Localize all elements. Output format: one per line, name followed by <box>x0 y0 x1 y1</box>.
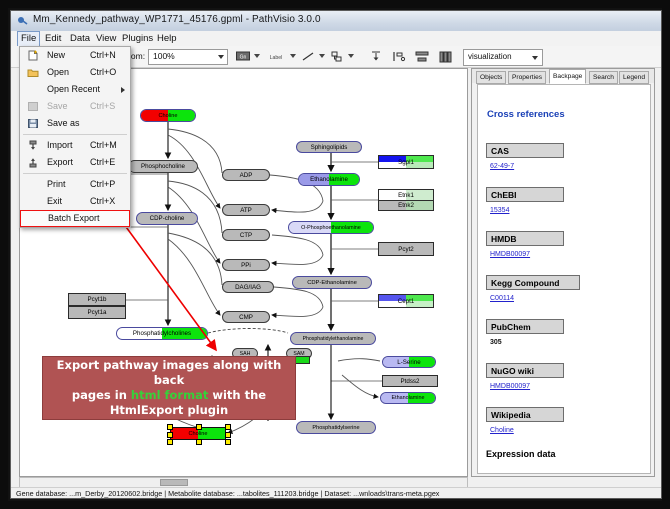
menu-edit[interactable]: Edit <box>41 32 65 45</box>
annotation-callout: Export pathway images along with back pa… <box>42 356 296 420</box>
node-cdp-ethanolamine[interactable]: CDP-Ethanolamine <box>292 276 372 289</box>
save-icon <box>27 101 39 112</box>
node-ethanolamine-2[interactable]: Ethanolamine <box>380 392 436 404</box>
annotation-text: Export pathway images along with back pa… <box>43 358 295 418</box>
side-panel-tabs: Objects Properties Backpage Search Legen… <box>472 69 654 83</box>
selection-handle[interactable] <box>167 439 173 445</box>
svg-text:Label: Label <box>270 55 283 61</box>
pathvisio-window: Mm_Kennedy_pathway_WP1771_45176.gpml - P… <box>10 10 662 499</box>
menu-separator <box>23 173 127 174</box>
file-menu-item-open[interactable]: Open Ctrl+O <box>20 64 130 81</box>
gene-pcyt2[interactable]: Pcyt2 <box>378 242 434 256</box>
file-menu-dropdown[interactable]: New Ctrl+N Open Ctrl+O Open Recent Save … <box>19 46 131 228</box>
submenu-arrow-icon <box>121 87 125 93</box>
tab-properties[interactable]: Properties <box>508 71 546 84</box>
stack-vertical-icon[interactable] <box>414 49 430 64</box>
annotation-line-2-pre: pages in <box>72 388 131 402</box>
status-bar-text: Gene database: ...m_Derby_20120602.bridg… <box>16 489 439 498</box>
datanode-dropdown-icon[interactable] <box>254 54 260 58</box>
node-adp[interactable]: ADP <box>222 169 270 181</box>
xref-value-cas[interactable]: 62-49-7 <box>490 163 514 170</box>
chevron-down-icon <box>532 56 538 60</box>
window-title: Mm_Kennedy_pathway_WP1771_45176.gpml - P… <box>33 14 321 25</box>
node-cmp[interactable]: CMP <box>222 311 270 323</box>
annotation-highlight: html format <box>131 388 208 402</box>
node-o-phosphoethanolamine[interactable]: O-Phosphoethanolamine <box>288 221 374 234</box>
file-menu-item-batch-export[interactable]: Batch Export <box>20 210 130 227</box>
file-menu-item-save-as[interactable]: Save as <box>20 115 130 132</box>
node-phosphocholine[interactable]: Phosphocholine <box>128 160 198 173</box>
node-ppi[interactable]: PPi <box>222 259 270 271</box>
backpage-scroll-area[interactable]: Cross references CAS 62-49-7 ChEBI 15354… <box>477 84 651 474</box>
gene-pcyt1a[interactable]: Pcyt1a <box>68 306 126 319</box>
gene-cept1[interactable]: Cept1 <box>378 294 434 308</box>
node-phosphatidylcholines[interactable]: Phosphatidylcholines <box>116 327 208 340</box>
node-phosphatidylserine[interactable]: Phosphatidylserine <box>296 421 376 434</box>
tab-objects[interactable]: Objects <box>476 71 506 84</box>
xref-value-chebi[interactable]: 15354 <box>490 207 509 214</box>
node-atp[interactable]: ATP <box>222 204 270 216</box>
xref-value-kegg[interactable]: C00114 <box>490 295 514 302</box>
node-cdp-choline[interactable]: CDP-choline <box>136 212 198 225</box>
label-dropdown-icon[interactable] <box>290 54 296 58</box>
xref-value-hmdb[interactable]: HMDB00097 <box>490 251 530 258</box>
save-as-icon <box>27 118 39 129</box>
xref-head-cas: CAS <box>486 143 564 158</box>
line-dropdown-icon[interactable] <box>319 54 325 58</box>
import-icon <box>27 140 39 151</box>
selection-handle[interactable] <box>225 439 231 445</box>
selection-handle[interactable] <box>225 424 231 430</box>
gene-etnk1[interactable]: Etnk1 <box>378 189 434 200</box>
annotation-line-2-post: with the <box>208 388 266 402</box>
file-menu-item-print[interactable]: Print Ctrl+P <box>20 176 130 193</box>
visualization-value: visualization <box>468 52 512 61</box>
stack-horizontal-icon[interactable] <box>437 49 453 64</box>
xref-head-nugo: NuGO wiki <box>486 363 564 378</box>
menu-bar: File Edit Data View Plugins Help <box>11 31 661 47</box>
folder-icon <box>27 67 39 78</box>
tab-search[interactable]: Search <box>589 71 618 84</box>
annotation-line-1: Export pathway images along with back <box>57 358 282 387</box>
xref-head-chebi: ChEBI <box>486 187 564 202</box>
xref-head-kegg: Kegg Compound <box>486 275 580 290</box>
align-left-icon[interactable] <box>391 49 407 64</box>
new-file-icon <box>27 50 39 61</box>
title-bar: Mm_Kennedy_pathway_WP1771_45176.gpml - P… <box>11 11 661 32</box>
node-l-serine[interactable]: L-Serine <box>382 356 436 368</box>
node-phosphatidylethanolamine[interactable]: Phosphatidylethanolamine <box>290 332 376 345</box>
pathvisio-app-icon <box>17 15 29 27</box>
xref-value-pubchem: 305 <box>490 339 502 346</box>
node-ethanolamine[interactable]: Ethanolamine <box>298 173 360 186</box>
gene-ptdss2[interactable]: Ptdss2 <box>382 375 438 387</box>
menu-view[interactable]: View <box>92 32 120 45</box>
selection-handle[interactable] <box>196 439 202 445</box>
shape-icon[interactable] <box>329 49 345 64</box>
gene-sgpl1[interactable]: Sgpl1 <box>378 155 434 169</box>
node-ctp[interactable]: CTP <box>222 229 270 241</box>
side-panel: Objects Properties Backpage Search Legen… <box>471 68 655 477</box>
export-icon <box>27 157 39 168</box>
align-top-icon[interactable] <box>368 49 384 64</box>
selection-handle[interactable] <box>167 432 173 438</box>
xref-head-pubchem: PubChem <box>486 319 564 334</box>
expression-data-heading: Expression data <box>486 449 556 459</box>
menu-file[interactable]: File <box>17 31 40 46</box>
xref-head-hmdb: HMDB <box>486 231 564 246</box>
gene-pcyt1b[interactable]: Pcyt1b <box>68 293 126 306</box>
file-menu-item-export[interactable]: Export Ctrl+E <box>20 154 130 171</box>
shape-dropdown-icon[interactable] <box>348 54 354 58</box>
file-menu-item-new[interactable]: New Ctrl+N <box>20 47 130 64</box>
line-icon[interactable] <box>300 49 316 64</box>
node-dag-iag[interactable]: DAG/IAG <box>222 281 274 293</box>
file-menu-item-open-recent[interactable]: Open Recent <box>20 81 130 98</box>
selection-handle[interactable] <box>225 432 231 438</box>
zoom-value: 100% <box>153 51 175 61</box>
chevron-down-icon <box>218 55 224 59</box>
node-choline-top[interactable]: Choline <box>140 109 196 122</box>
menu-data[interactable]: Data <box>66 32 94 45</box>
tab-backpage[interactable]: Backpage <box>549 69 586 84</box>
menu-plugins[interactable]: Plugins <box>118 32 157 45</box>
svg-text:Gn: Gn <box>240 55 247 61</box>
status-bar: Gene database: ...m_Derby_20120602.bridg… <box>11 487 661 499</box>
xref-value-wikipedia[interactable]: Choline <box>490 427 514 434</box>
selection-handle[interactable] <box>196 424 202 430</box>
visualization-combobox[interactable]: visualization <box>463 49 543 66</box>
datanode-icon[interactable]: Gn <box>235 49 251 64</box>
menu-help[interactable]: Help <box>153 32 181 45</box>
xref-value-nugo[interactable]: HMDB00097 <box>490 383 530 390</box>
menu-separator <box>23 134 127 135</box>
scrollbar-thumb[interactable] <box>160 479 188 486</box>
file-menu-item-import[interactable]: Import Ctrl+M <box>20 137 130 154</box>
tab-legend[interactable]: Legend <box>619 71 649 84</box>
backpage-title: Cross references <box>487 109 565 120</box>
zoom-combobox[interactable]: 100% <box>148 49 228 65</box>
label-icon[interactable]: Label <box>265 49 287 64</box>
gene-etnk2[interactable]: Etnk2 <box>378 200 434 211</box>
file-menu-item-exit[interactable]: Exit Ctrl+X <box>20 193 130 210</box>
annotation-line-3: HtmlExport plugin <box>110 403 228 417</box>
xref-head-wikipedia: Wikipedia <box>486 407 564 422</box>
node-choline-selected[interactable]: Choline <box>170 427 226 440</box>
file-menu-item-save: Save Ctrl+S <box>20 98 130 115</box>
selection-handle[interactable] <box>167 424 173 430</box>
node-sphingolipids[interactable]: Sphingolipids <box>296 141 362 153</box>
screenshot-root: Mm_Kennedy_pathway_WP1771_45176.gpml - P… <box>0 0 670 509</box>
